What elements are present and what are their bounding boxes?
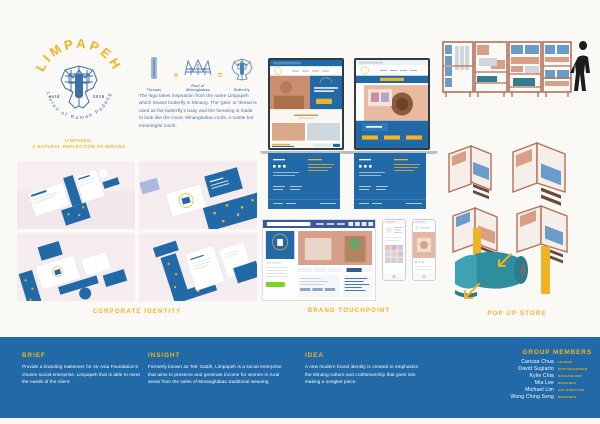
logo-tagline-line1: LIMPAPEH: <box>65 138 93 143</box>
member-name: Wong Ching Seng <box>511 394 555 400</box>
logo-equation: Threads + Roof of Minangkabau = <box>139 58 257 92</box>
threads-icon <box>149 57 159 81</box>
corporate-identity-grid <box>17 161 257 301</box>
insight-heading: INSIGHT <box>148 352 284 359</box>
mockup-stationery-set-flatlay[interactable] <box>17 161 135 229</box>
phone-mockup-row <box>382 219 436 281</box>
group-member-row: David Sugiarto PHOTOGRAPHER <box>470 366 592 372</box>
member-name: Mia Lee <box>535 380 554 386</box>
group-member-row: Michael Lim ART DIRECTOR <box>470 387 592 393</box>
svg-text:2019: 2019 <box>93 94 105 99</box>
laptop-screen-home <box>268 58 344 150</box>
brief-heading: BRIEF <box>22 352 140 359</box>
brand-touchpoint-label: BRAND TOUCHPOINT <box>262 307 436 314</box>
equation-term-threads: Threads <box>139 57 169 92</box>
branding-presentation-board: LIMPAPEH Lintau of Rumah Padang estd 201… <box>0 0 600 424</box>
social-mockup-row <box>262 219 436 301</box>
footer-column-brief: BRIEF Provide a branding makeover for Ai… <box>22 352 140 386</box>
group-member-row: Wong Ching Seng DESIGNER <box>470 394 592 400</box>
member-role: DESIGNER <box>558 395 592 399</box>
roof-icon <box>183 55 213 77</box>
insight-body: Formerly known as Tek' Gadih, Limpapeh i… <box>148 363 284 386</box>
mockup-business-card-and-pattern[interactable] <box>139 161 257 229</box>
mockup-facebook-page-desktop[interactable] <box>262 219 376 301</box>
member-name: Kylie Chia <box>529 373 554 379</box>
logo-tagline-line2: A NATURAL REFLECTION OF MINANG <box>32 144 125 149</box>
svg-text:estd: estd <box>49 94 60 99</box>
equation-term-roof: Roof of Minangkabau <box>183 55 213 92</box>
member-role: LEADER <box>558 360 592 364</box>
plus-operator: + <box>173 70 178 92</box>
group-member-row: Mia Lee DESIGNER <box>470 380 592 386</box>
store-elevation-with-human-scale <box>443 41 590 97</box>
brand-touchpoint-section: BRAND TOUCHPOINT <box>262 58 436 314</box>
member-role: PHOTOGRAPHER <box>558 367 592 371</box>
group-member-row: Carissa Chua LEADER <box>470 359 592 365</box>
logo-rationale-text: The logo takes inspiration from the name… <box>139 92 257 129</box>
member-name: David Sugiarto <box>518 366 554 372</box>
member-role: RESEARCHER <box>558 374 592 378</box>
butterfly-icon <box>230 55 254 81</box>
group-member-row: Kylie Chia RESEARCHER <box>470 373 592 379</box>
pop-up-store-label: POP UP STORE <box>437 310 597 317</box>
modular-booth-configuration-2 <box>513 143 565 206</box>
pop-up-store-renders <box>437 36 597 306</box>
footer-bar: BRIEF Provide a branding makeover for Ai… <box>0 337 600 418</box>
mockup-website-homepage-laptop[interactable] <box>268 58 344 209</box>
group-members-heading: GROUP MEMBERS <box>470 349 592 356</box>
corporate-identity-section: CORPORATE IDENTITY <box>17 161 257 315</box>
equals-operator: = <box>217 70 222 92</box>
pop-up-store-section <box>437 36 597 311</box>
website-homepage-footer-scroll <box>268 153 340 209</box>
idea-body: A new modern brand identity is created t… <box>305 363 425 386</box>
laptop-screen-product <box>354 58 430 150</box>
corporate-identity-label: CORPORATE IDENTITY <box>17 308 257 315</box>
human-silhouette <box>570 41 590 91</box>
mockup-instagram-profile-phone[interactable] <box>382 219 406 281</box>
logo-rationale-block: Threads + Roof of Minangkabau = <box>139 58 257 129</box>
footer-column-idea: IDEA A new modern brand identity is crea… <box>305 352 425 386</box>
group-member-list: Carissa Chua LEADER David Sugiarto PHOTO… <box>470 359 592 400</box>
mockup-instagram-post-phone[interactable] <box>412 219 436 281</box>
website-product-footer-scroll <box>354 153 426 209</box>
member-role: DESIGNER <box>558 381 592 385</box>
brand-logo-lockup: LIMPAPEH Lintau of Rumah Padang estd 201… <box>18 34 140 154</box>
laptop-mockup-row <box>262 58 436 209</box>
equation-term-butterfly: Butterfly <box>227 55 257 92</box>
modular-booth-configuration-1 <box>449 146 491 199</box>
mockup-folder-and-document-set[interactable] <box>139 233 257 301</box>
member-role: ART DIRECTOR <box>558 388 592 392</box>
mockup-website-product-page-laptop[interactable] <box>354 58 430 209</box>
member-name: Carissa Chua <box>521 359 554 365</box>
footer-column-insight: INSIGHT Formerly known as Tek' Gadih, Li… <box>148 352 284 386</box>
roof-caption: Roof of Minangkabau <box>183 84 213 92</box>
member-name: Michael Lim <box>525 387 554 393</box>
mockup-letterhead-and-envelope-set[interactable] <box>17 233 135 301</box>
group-members-block: GROUP MEMBERS Carissa Chua LEADER David … <box>470 349 592 401</box>
logo-tagline: LIMPAPEH: A NATURAL REFLECTION OF MINANG <box>18 138 140 150</box>
limpapeh-logo-icon: LIMPAPEH Lintau of Rumah Padang estd 201… <box>29 36 129 136</box>
idea-heading: IDEA <box>305 352 425 359</box>
brief-body: Provide a branding makeover for Air Asia… <box>22 363 140 386</box>
